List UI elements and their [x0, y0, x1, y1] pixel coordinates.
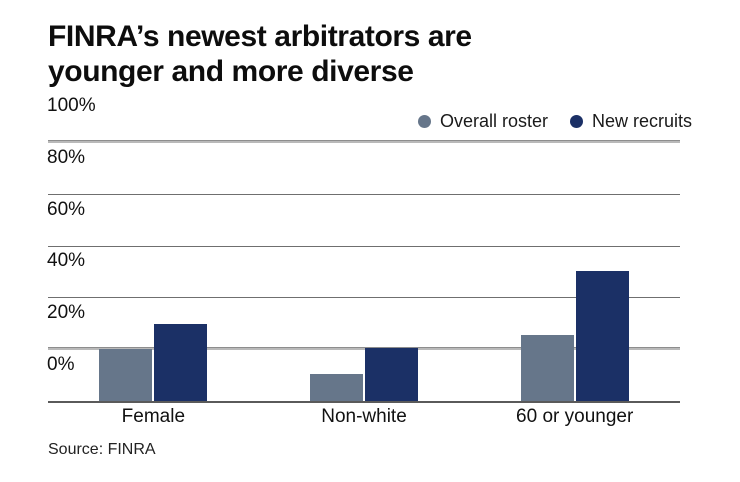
- chart-legend: Overall roster New recruits: [418, 108, 692, 134]
- x-axis-label: Female: [48, 406, 259, 428]
- circle-marker-icon: [418, 115, 431, 128]
- bar-group: [259, 143, 470, 402]
- legend-item-new-recruits[interactable]: New recruits: [570, 111, 692, 132]
- chart-title: FINRA’s newest arbitrators are younger a…: [48, 20, 688, 90]
- bar-group: [469, 143, 680, 402]
- legend-label: New recruits: [592, 111, 692, 132]
- circle-marker-icon: [570, 115, 583, 128]
- bar[interactable]: [99, 349, 152, 402]
- bar[interactable]: [154, 324, 207, 402]
- plot-area: 0%20%40%60%80%100%: [48, 143, 680, 402]
- x-axis-line: [48, 401, 680, 403]
- y-axis-tick-label: 100%: [47, 95, 96, 119]
- legend-item-overall-roster[interactable]: Overall roster: [418, 111, 548, 132]
- x-axis-label: Non-white: [259, 406, 470, 428]
- bar-groups: [48, 143, 680, 402]
- bar-group: [48, 143, 259, 402]
- x-axis-labels: FemaleNon-white60 or younger: [48, 406, 680, 428]
- legend-label: Overall roster: [440, 111, 548, 132]
- source-note: Source: FINRA: [48, 441, 156, 459]
- bar[interactable]: [576, 271, 629, 402]
- bar[interactable]: [521, 335, 574, 402]
- bar[interactable]: [365, 348, 418, 402]
- chart-container: FINRA’s newest arbitrators are younger a…: [0, 0, 740, 482]
- bar[interactable]: [310, 374, 363, 402]
- x-axis-label: 60 or younger: [469, 406, 680, 428]
